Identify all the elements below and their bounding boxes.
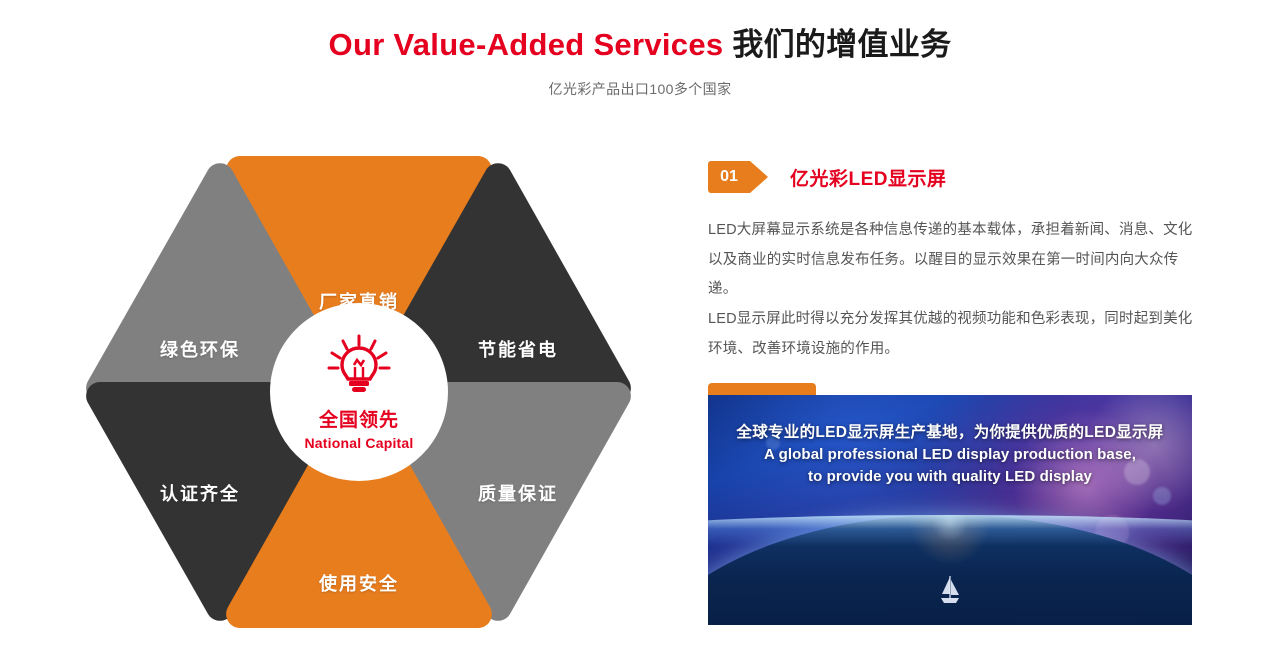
- hexagon-center[interactable]: 全国领先 National Capital: [270, 303, 448, 481]
- page-header: Our Value-Added Services 我们的增值业务 亿光彩产品出口…: [0, 0, 1280, 99]
- hex-label-safe-to-use: 使用安全: [319, 570, 399, 596]
- page-subtitle: 亿光彩产品出口100多个国家: [0, 63, 1280, 99]
- value-added-services-section: Our Value-Added Services 我们的增值业务 亿光彩产品出口…: [0, 0, 1280, 645]
- section-heading: 亿光彩LED显示屏: [790, 164, 947, 191]
- section-number-badge: 01: [708, 161, 750, 193]
- page-title-cn: 我们的增值业务: [732, 27, 951, 62]
- body-line-1: LED大屏幕显示系统是各种信息传递的基本载体，承担着新闻、消息、文化: [708, 216, 1198, 246]
- page-title: Our Value-Added Services 我们的增值业务: [0, 0, 1280, 63]
- page-title-en: Our Value-Added Services: [329, 27, 724, 62]
- hexagon-diagram: 厂家直销 绿色环: [78, 146, 640, 638]
- banner-caption: 全球专业的LED显示屏生产基地，为你提供优质的LED显示屏 A global p…: [708, 421, 1192, 488]
- banner-line-en-1: A global professional LED display produc…: [708, 444, 1192, 466]
- service-detail-panel: 01 亿光彩LED显示屏 LED大屏幕显示系统是各种信息传递的基本载体，承担着新…: [708, 160, 1198, 425]
- sailing-ship-icon: [937, 574, 963, 608]
- banner-line-en-2: to provide you with quality LED display: [708, 466, 1192, 488]
- body-line-4: 环境、改善环境设施的作用。: [708, 335, 1198, 365]
- banner-line-cn: 全球专业的LED显示屏生产基地，为你提供优质的LED显示屏: [708, 421, 1192, 444]
- center-label-en: National Capital: [305, 435, 414, 451]
- center-label-cn: 全国领先: [319, 405, 399, 432]
- section-body-text: LED大屏幕显示系统是各种信息传递的基本载体，承担着新闻、消息、文化 以及商业的…: [708, 216, 1198, 365]
- lightbulb-icon: [323, 334, 395, 401]
- led-display-banner[interactable]: 全球专业的LED显示屏生产基地，为你提供优质的LED显示屏 A global p…: [708, 395, 1192, 625]
- section-heading-row: 01 亿光彩LED显示屏: [708, 160, 1198, 194]
- globe-horizon: [708, 515, 1192, 625]
- body-line-2: 以及商业的实时信息发布任务。以醒目的显示效果在第一时间内向大众传递。: [708, 246, 1198, 305]
- body-line-3: LED显示屏此时得以充分发挥其优越的视频功能和色彩表现，同时起到美化: [708, 305, 1198, 335]
